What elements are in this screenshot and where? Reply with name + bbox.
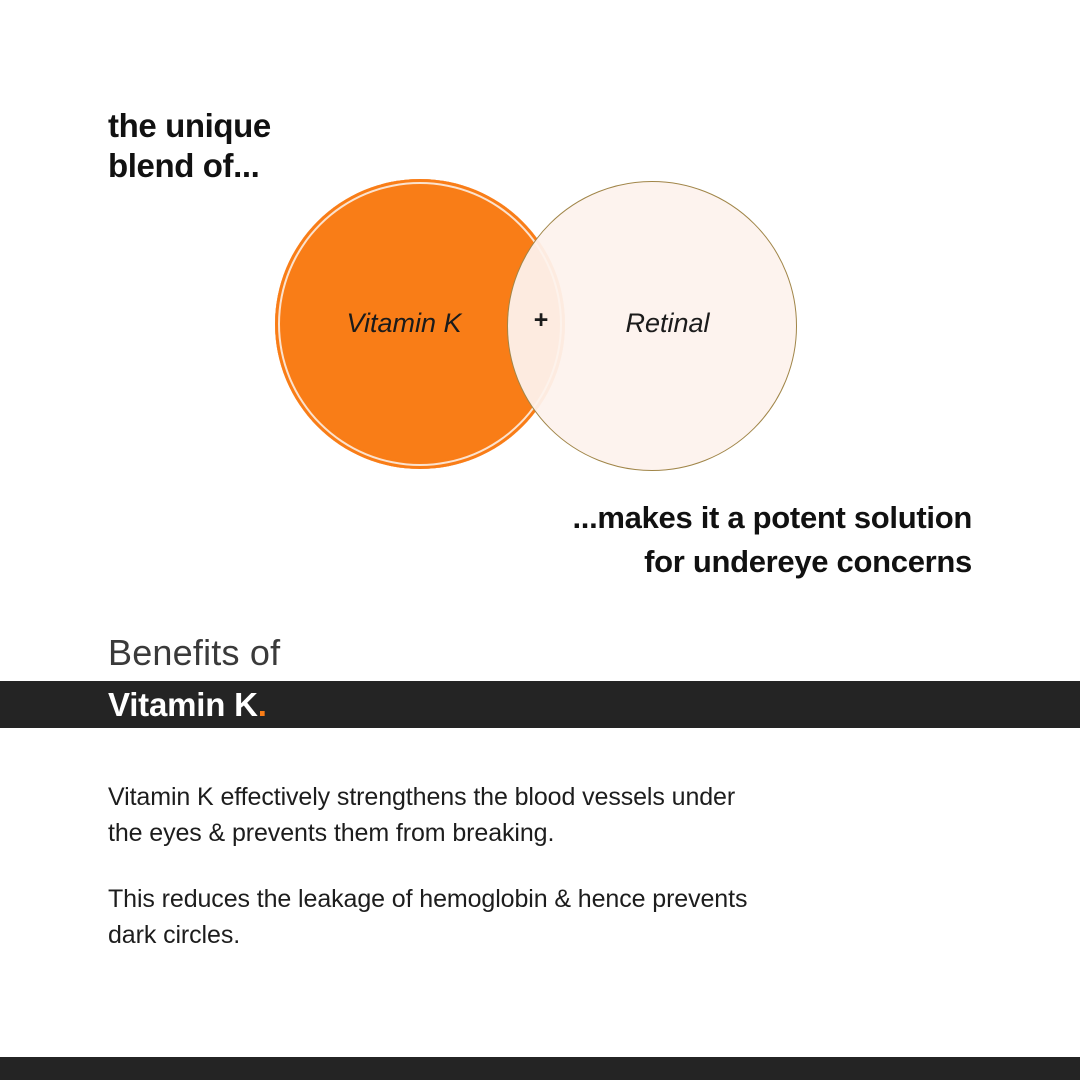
venn-label-vitamin-k: Vitamin K — [275, 308, 533, 339]
benefits-pre-label: Benefits of — [108, 632, 280, 674]
headline: the unique blend of... — [108, 106, 271, 187]
subheadline: ...makes it a potent solution for undere… — [352, 496, 972, 585]
plus-icon: + — [525, 306, 557, 335]
benefits-title-accent-dot: . — [258, 686, 267, 723]
body-paragraph-2: This reduces the leakage of hemoglobin &… — [108, 882, 938, 953]
footer-band — [0, 1057, 1080, 1080]
body-paragraph-1: Vitamin K effectively strengthens the bl… — [108, 780, 938, 851]
benefits-title-text: Vitamin K — [108, 686, 258, 723]
infographic-slide: the unique blend of... Vitamin K + Retin… — [0, 0, 1080, 1080]
venn-label-retinal: Retinal — [560, 308, 775, 339]
benefits-title: Vitamin K. — [108, 686, 267, 724]
body-copy: Vitamin K effectively strengthens the bl… — [108, 780, 938, 953]
